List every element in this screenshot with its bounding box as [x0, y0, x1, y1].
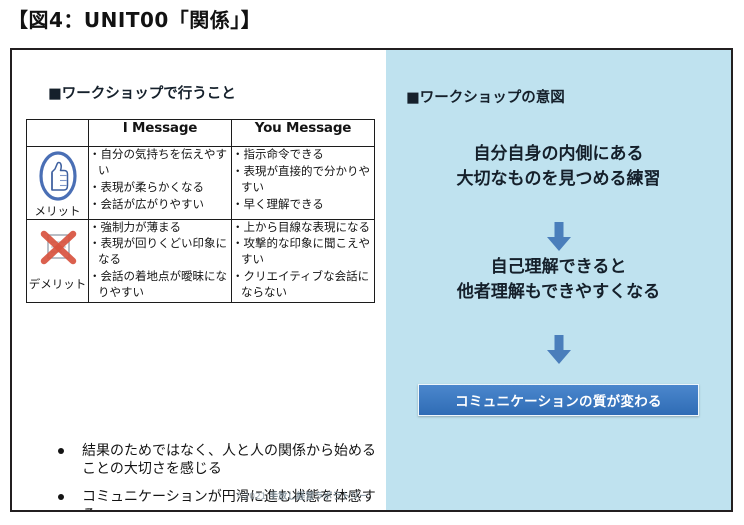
copyright-brand: 手放し経営ラボラトリー	[269, 492, 368, 502]
bullet-dot	[58, 494, 64, 500]
list-item: 表現が柔らかくなる	[89, 180, 231, 196]
list-item: 早く理解できる	[232, 197, 374, 213]
column-header-i-message: I Message	[89, 120, 232, 147]
merit-label: メリット	[27, 205, 88, 219]
right-section: ■ワークショップの意図 自分自身の内側にある 大切なものを見つめる練習 自己理解…	[386, 50, 731, 510]
column-header-you-message: You Message	[232, 120, 375, 147]
demerit-label: デメリット	[27, 278, 88, 292]
copyright-year: 2021	[244, 492, 267, 502]
down-arrow-icon	[546, 335, 572, 365]
table-row: メリット 自分の気持ちを伝えやすい 表現が柔らかくなる 会話が広がりやすい 指	[27, 147, 375, 220]
right-heading: ■ワークショップの意図	[406, 86, 565, 107]
intent-line-1: 自分自身の内側にある 大切なものを見つめる練習	[386, 142, 731, 191]
workshop-table: I Message You Message	[26, 119, 375, 303]
left-heading: ■ワークショップで行うこと	[48, 82, 236, 103]
list-item: 結果のためではなく、人と人の関係から始めることの大切さを感じる	[38, 442, 378, 479]
list-item: クリエイティブな会話にならない	[232, 269, 374, 301]
merit-icon-cell: メリット	[27, 147, 89, 220]
list-item: 指示命令できる	[232, 147, 374, 163]
slide-frame: ■ワークショップで行うこと I Message You Message	[10, 48, 733, 512]
list-item: 攻撃的な印象に聞こえやすい	[232, 236, 374, 268]
demerit-you-message-cell: 上から目線な表現になる 攻撃的な印象に聞こえやすい クリエイティブな会話にならな…	[232, 219, 375, 302]
bullet-text: 結果のためではなく、人と人の関係から始めることの大切さを感じる	[82, 443, 376, 477]
list-item: 会話の着地点が曖昧になりやすい	[89, 269, 231, 301]
table-header-row: I Message You Message	[27, 120, 375, 147]
copyright-credit: ©2021 手放し経営ラボラトリー	[236, 489, 368, 502]
merit-i-message-cell: 自分の気持ちを伝えやすい 表現が柔らかくなる 会話が広がりやすい	[89, 147, 232, 220]
list-item: 表現が回りくどい印象になる	[89, 236, 231, 268]
list-item: 強制力が薄まる	[89, 220, 231, 236]
bullet-dot	[58, 448, 64, 454]
merit-you-message-cell: 指示命令できる 表現が直接的で分かりやすい 早く理解できる	[232, 147, 375, 220]
list-item: 上から目線な表現になる	[232, 220, 374, 236]
demerit-i-message-cell: 強制力が薄まる 表現が回りくどい印象になる 会話の着地点が曖昧になりやすい	[89, 219, 232, 302]
list-item: 表現が直接的で分かりやすい	[232, 164, 374, 196]
figure-page: 【図4：UNIT00「関係」】 ■ワークショップで行うこと I Message …	[0, 0, 744, 525]
red-cross-out-icon	[27, 220, 88, 278]
outcome-banner-text: コミュニケーションの質が変わる	[455, 390, 662, 410]
column-header-icon	[27, 120, 89, 147]
list-item: 自分の気持ちを伝えやすい	[89, 147, 231, 179]
list-item: 会話が広がりやすい	[89, 197, 231, 213]
demerit-icon-cell: デメリット	[27, 219, 89, 302]
figure-title: 【図4：UNIT00「関係」】	[8, 4, 261, 33]
left-section: ■ワークショップで行うこと I Message You Message	[12, 50, 390, 510]
down-arrow-icon	[546, 222, 572, 252]
thumbs-up-icon	[27, 147, 88, 205]
intent-line-2: 自己理解できると 他者理解もできやすくなる	[386, 255, 731, 304]
copyright-mark: ©	[236, 491, 244, 500]
table-row: デメリット 強制力が薄まる 表現が回りくどい印象になる 会話の着地点が曖昧になり…	[27, 219, 375, 302]
outcome-banner: コミュニケーションの質が変わる	[418, 384, 699, 416]
